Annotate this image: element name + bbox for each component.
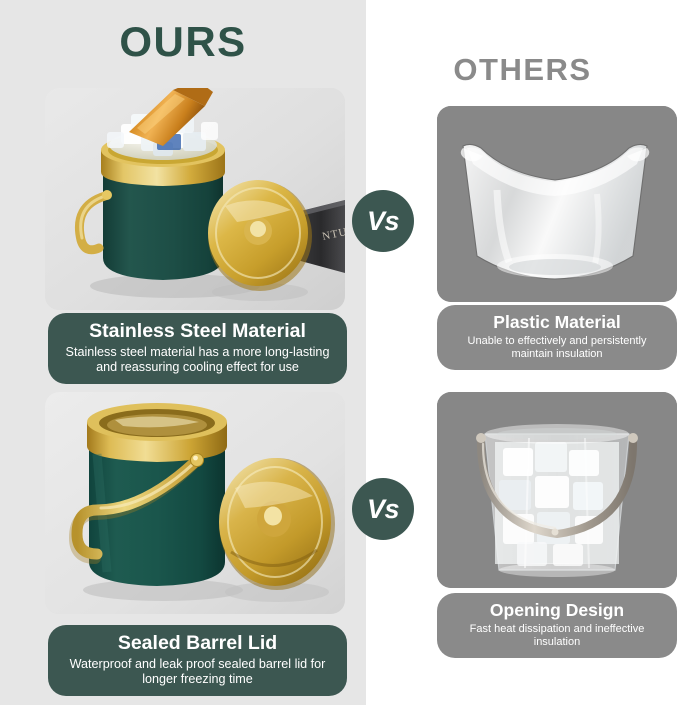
- others-product-image-2: [437, 392, 677, 588]
- ours-product-image-2: [45, 392, 345, 614]
- sealed-barrel-lid-bucket-illustration: [45, 392, 345, 614]
- ours-caption-2: Sealed Barrel Lid Waterproof and leak pr…: [48, 625, 347, 696]
- vs-badge-2: Vs: [352, 478, 414, 540]
- ice-cubes-2: [495, 442, 619, 566]
- others-caption-2: Opening Design Fast heat dissipation and…: [437, 593, 677, 658]
- ours-caption-1-title: Stainless Steel Material: [58, 320, 337, 343]
- others-caption-2-title: Opening Design: [447, 600, 667, 621]
- bucket-lid-2: [219, 458, 335, 590]
- others-caption-1: Plastic Material Unable to effectively a…: [437, 305, 677, 370]
- ice-bucket-with-bottle-illustration: NTURY: [45, 88, 345, 310]
- acrylic-ice-bucket-illustration: [437, 392, 677, 588]
- others-heading: OTHERS: [366, 52, 679, 88]
- ours-caption-2-subtitle: Waterproof and leak proof sealed barrel …: [58, 657, 337, 687]
- ours-caption-2-title: Sealed Barrel Lid: [58, 632, 337, 655]
- others-caption-1-title: Plastic Material: [447, 312, 667, 333]
- ours-product-image-1: NTURY: [45, 88, 345, 310]
- plastic-boat-bucket-illustration: [437, 106, 677, 302]
- others-caption-2-subtitle: Fast heat dissipation and ineffective in…: [447, 623, 667, 649]
- ours-caption-1-subtitle: Stainless steel material has a more long…: [58, 345, 337, 375]
- others-product-image-1: [437, 106, 677, 302]
- ours-heading: OURS: [0, 18, 366, 66]
- vs-badge-1: Vs: [352, 190, 414, 252]
- comparison-infographic: OURS OTHERS: [0, 0, 679, 705]
- ours-caption-1: Stainless Steel Material Stainless steel…: [48, 313, 347, 384]
- others-caption-1-subtitle: Unable to effectively and persistently m…: [447, 335, 667, 361]
